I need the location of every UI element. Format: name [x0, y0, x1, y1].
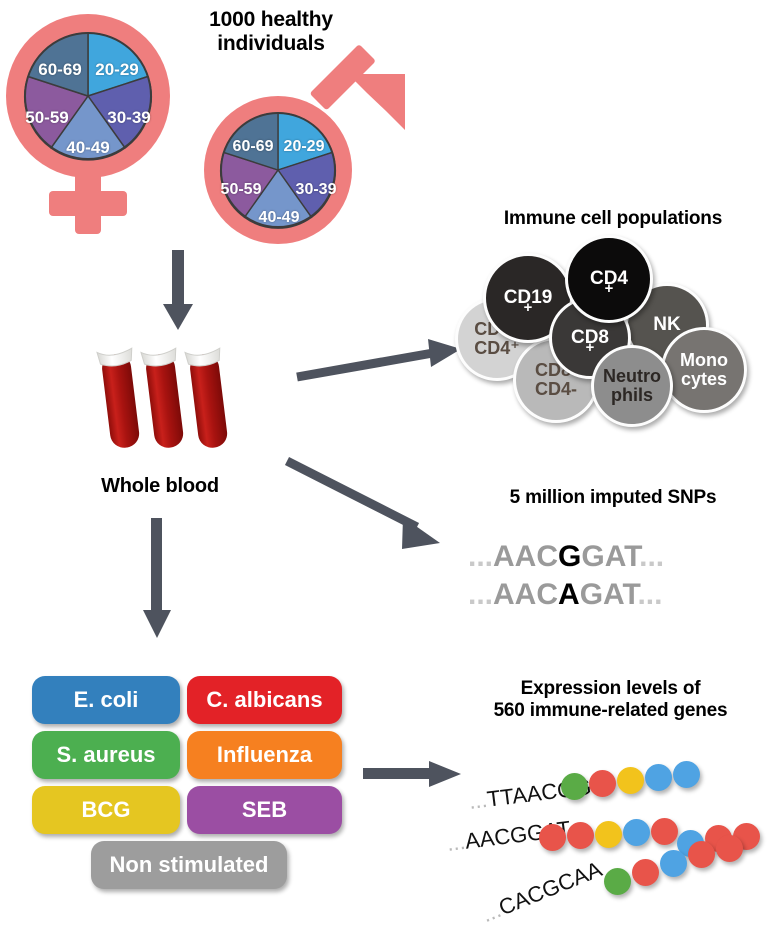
- female-pie-label-20-29: 20-29: [95, 60, 138, 80]
- bead-r1-4: [645, 764, 672, 791]
- bead-r2-2: [567, 822, 594, 849]
- cohort-heading-line1: 1000 healthy: [176, 8, 366, 32]
- expression-sequences: ...TTAACGG ...AACGGAT ...CACGCAA: [455, 735, 771, 920]
- male-pie-label-20-29: 20-29: [284, 138, 325, 156]
- snp-row2-lead: AAC: [493, 578, 558, 611]
- female-pie-label-50-59: 50-59: [25, 108, 68, 128]
- pill-c-albicans[interactable]: C. albicans: [187, 676, 342, 724]
- snp-allele-row-1: ...AACGGAT...: [468, 540, 664, 574]
- expression-title-line2: 560 immune-related genes: [450, 700, 771, 722]
- bead-r3-3: [660, 850, 687, 877]
- pill-bcg[interactable]: BCG: [32, 786, 180, 834]
- pill-label-non-stimulated: Non stimulated: [110, 852, 269, 878]
- bead-r2-3: [595, 821, 622, 848]
- male-pie-label-30-39: 30-39: [296, 181, 337, 199]
- pill-non-stimulated[interactable]: Non stimulated: [91, 841, 287, 889]
- snp-sequences: ...AACGGAT... ...AACAGAT...: [468, 528, 768, 618]
- snp-row2-suffix: ...: [637, 578, 662, 611]
- bead-r1-3: [617, 767, 644, 794]
- female-pie-label-30-39: 30-39: [107, 108, 150, 128]
- snp-row1-suffix: ...: [639, 540, 664, 573]
- snp-title: 5 million imputed SNPs: [455, 487, 771, 509]
- bead-r2-5: [651, 818, 678, 845]
- bead-r2-1: [539, 824, 566, 851]
- pill-seb[interactable]: SEB: [187, 786, 342, 834]
- bead-r1-2: [589, 770, 616, 797]
- snp-row1-variant: G: [558, 540, 581, 573]
- pill-e-coli[interactable]: E. coli: [32, 676, 180, 724]
- arrow-cohort-to-blood: [163, 250, 193, 332]
- bead-r3-2: [632, 859, 659, 886]
- male-symbol: 20-29 30-39 40-49 50-59 60-69: [200, 62, 420, 252]
- arrow-blood-to-immune: [295, 335, 465, 385]
- snp-row2-variant: A: [558, 578, 580, 611]
- arrow-blood-to-stimulation: [142, 518, 172, 640]
- bead-r3-4: [688, 841, 715, 868]
- cell-label-neutrophils: Neutro phils: [603, 367, 661, 404]
- figure-canvas: 1000 healthy individuals 20-29: [0, 0, 771, 922]
- male-pie-label-50-59: 50-59: [221, 181, 262, 199]
- cohort-heading: 1000 healthy individuals: [176, 8, 366, 56]
- snp-allele-row-2: ...AACAGAT...: [468, 578, 662, 612]
- pill-influenza[interactable]: Influenza: [187, 731, 342, 779]
- female-symbol: 20-29 30-39 40-49 50-59 60-69: [2, 8, 182, 243]
- bead-r1-5: [673, 761, 700, 788]
- sequence-row-3-bases: CACGCAA: [495, 856, 605, 920]
- arrow-stimulation-to-expression: [363, 758, 463, 790]
- arrow-blood-to-snp: [285, 455, 455, 555]
- pill-label-e-coli: E. coli: [74, 687, 139, 713]
- blood-tubes: [98, 340, 238, 460]
- expression-title: Expression levels of 560 immune-related …: [450, 678, 771, 722]
- male-pie-label-40-49: 40-49: [259, 209, 300, 227]
- pill-label-bcg: BCG: [82, 797, 131, 823]
- snp-row1-lead: AAC: [493, 540, 558, 573]
- immune-title: Immune cell populations: [455, 208, 771, 230]
- expression-title-line1: Expression levels of: [450, 678, 771, 700]
- pill-label-seb: SEB: [242, 797, 287, 823]
- immune-cell-monocytes: Mono cytes: [661, 327, 747, 413]
- female-pie-label-60-69: 60-69: [38, 60, 81, 80]
- pill-s-aureus[interactable]: S. aureus: [32, 731, 180, 779]
- bead-r3-1: [604, 868, 631, 895]
- male-pie-label-60-69: 60-69: [233, 138, 274, 156]
- stimulation-panel: E. coli C. albicans S. aureus Influenza …: [32, 676, 342, 906]
- bead-r2-4: [623, 819, 650, 846]
- snp-row1-prefix: ...: [468, 540, 493, 573]
- bead-r1-1: [561, 773, 588, 800]
- snp-row2-prefix: ...: [468, 578, 493, 611]
- snp-row1-tail: GAT: [581, 540, 639, 573]
- cell-label-nk: NK: [653, 315, 680, 335]
- cohort-heading-line2: individuals: [176, 32, 366, 56]
- pill-label-c-albicans: C. albicans: [206, 687, 322, 713]
- immune-cell-cluster: CD8⁺ CD4⁺ CD8- CD4- CD19+ CD4+ CD8+ NK N…: [455, 235, 771, 430]
- sequence-row-3-text: ...CACGCAA: [478, 856, 606, 928]
- pill-label-s-aureus: S. aureus: [56, 742, 155, 768]
- pill-label-influenza: Influenza: [217, 742, 312, 768]
- whole-blood-label: Whole blood: [80, 475, 240, 498]
- snp-row2-tail: GAT: [580, 578, 638, 611]
- cell-label-monocytes: Mono cytes: [680, 351, 728, 388]
- female-pie-label-40-49: 40-49: [66, 138, 109, 158]
- immune-cell-neutrophils: Neutro phils: [591, 345, 673, 427]
- bead-r3-5: [716, 835, 743, 862]
- immune-cell-cd4-positive: CD4+: [565, 235, 653, 323]
